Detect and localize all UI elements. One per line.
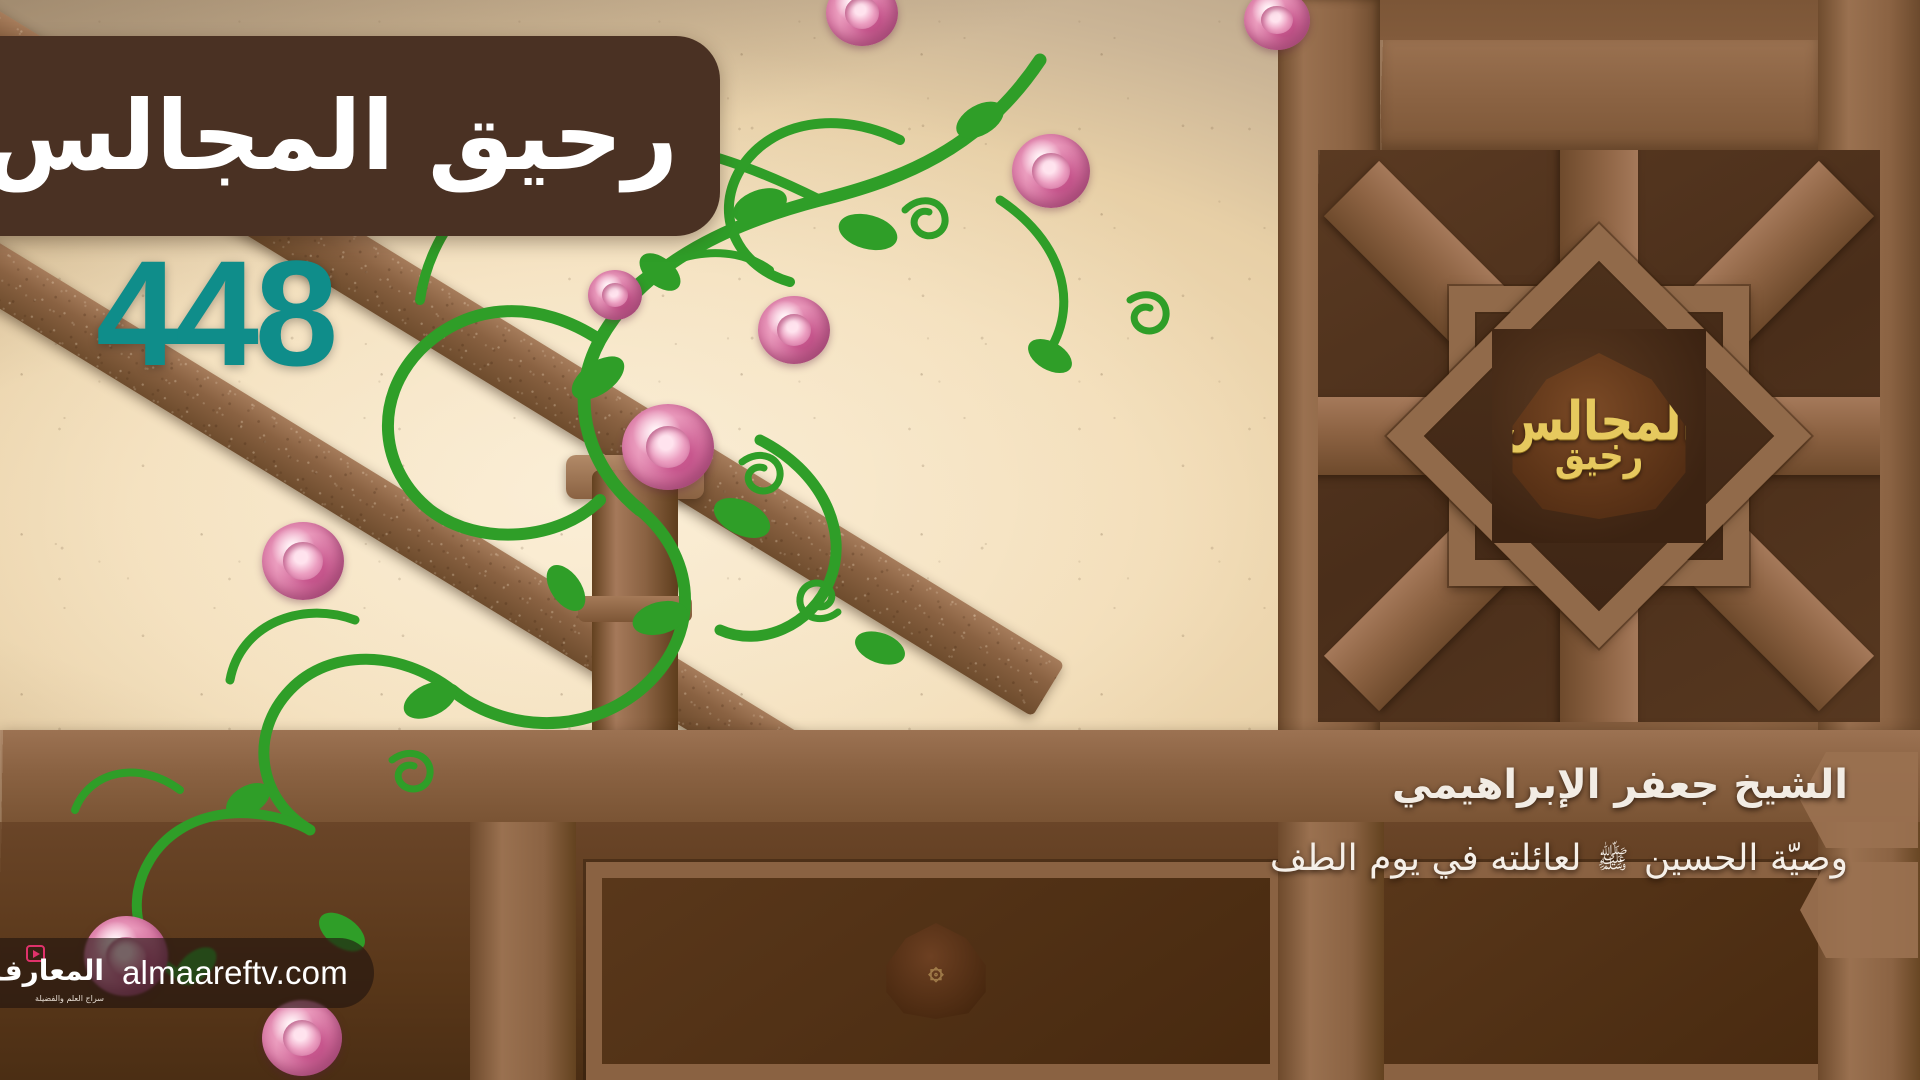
rose-flower: [1012, 134, 1090, 208]
rose-flower: [262, 522, 344, 600]
medallion-calligraphy: المجالس رحيق: [1501, 397, 1698, 475]
episode-subject: وصيّة الحسين ﷺ لعائلته في يوم الطف: [868, 836, 1848, 883]
wood-streak-texture: [1380, 40, 1818, 150]
rose-flower: [758, 296, 830, 364]
rose-petals: [758, 296, 830, 364]
bench-panel-right: [1318, 862, 1880, 1080]
website-url: almaareftv.com: [122, 954, 348, 992]
newel-post-collar: [578, 596, 692, 622]
rose-petals: [262, 522, 344, 600]
rose-flower: [588, 270, 642, 320]
subject-part-2: لعائلته في يوم الطف: [1270, 838, 1582, 879]
speaker-name: الشيخ جعفر الإبراهيمي: [868, 760, 1848, 810]
subject-part-1: وصيّة الحسين: [1644, 838, 1848, 879]
watermark-bar[interactable]: المعارف سراج العلم والفضيلة almaareftv.c…: [0, 938, 374, 1008]
program-title-banner: رحيق المجالس: [0, 36, 720, 236]
brand-arabic: المعارف: [0, 954, 104, 987]
rose-petals: [1012, 134, 1090, 208]
rose-flower: [826, 0, 898, 46]
bench-panel-left: ۞: [586, 862, 1286, 1080]
caption-block: الشيخ جعفر الإبراهيمي وصيّة الحسين ﷺ لعا…: [868, 760, 1848, 883]
bench-medallion-left: ۞: [882, 923, 990, 1019]
almaaref-logo: المعارف سراج العلم والفضيلة: [18, 948, 104, 998]
rose-petals: [826, 0, 898, 46]
bench-leg-post-1: [470, 822, 576, 1080]
program-title: رحيق المجالس: [0, 80, 678, 192]
honorific-symbol: ﷺ: [1597, 844, 1628, 878]
wall-header-rail: [1380, 40, 1818, 150]
episode-number: 448: [96, 238, 334, 388]
poster-canvas: المجالس رحيق ۞: [0, 0, 1920, 1080]
eight-point-star-panel: المجالس رحيق: [1318, 150, 1880, 722]
rose-petals: [588, 270, 642, 320]
brand-tagline: سراج العلم والفضيلة: [35, 994, 104, 1003]
